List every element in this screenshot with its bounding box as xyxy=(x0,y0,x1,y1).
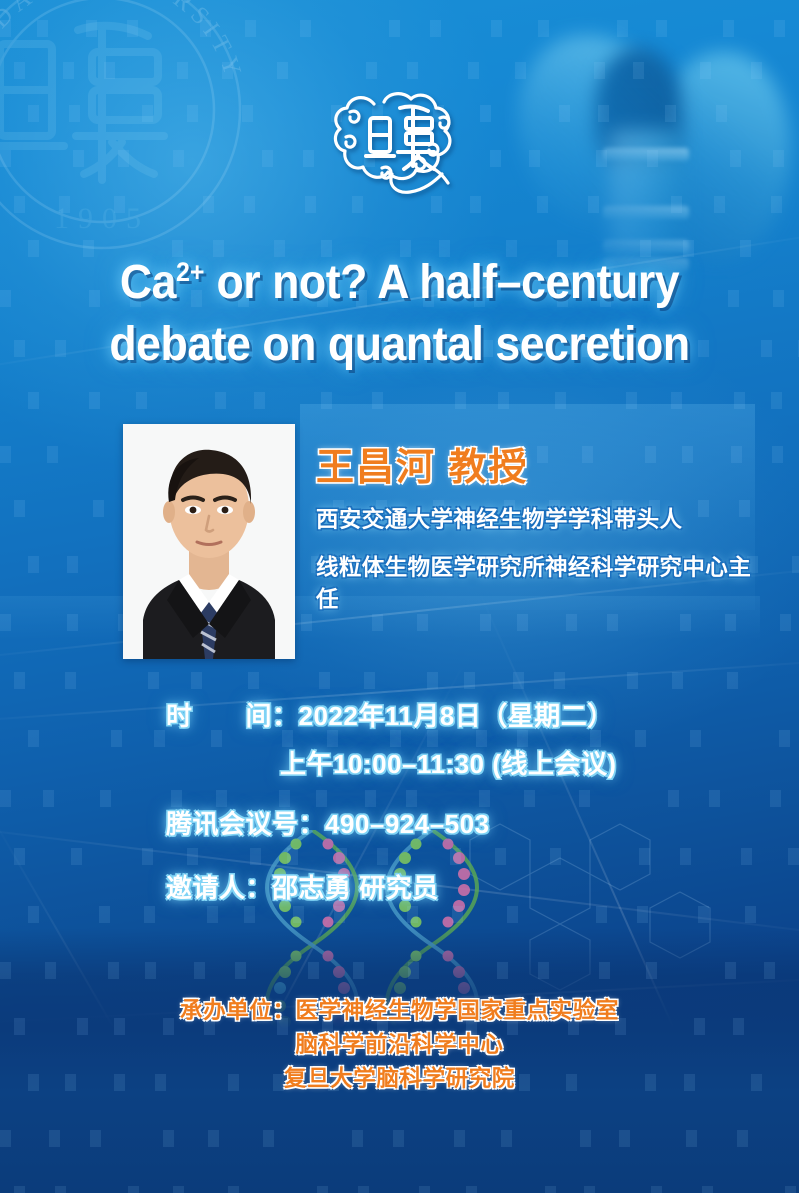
brain-logo-icon xyxy=(330,82,480,197)
speaker-title-line-1: 西安交通大学神经生物学学科带头人 xyxy=(316,502,766,534)
speaker-name: 王昌河 教授 xyxy=(316,436,529,491)
speaker-portrait-photo xyxy=(123,424,295,659)
page-title: Ca2+ or not? A half–century debate on qu… xyxy=(28,252,771,377)
organizer-line-2: 脑科学前沿科学中心 xyxy=(0,1028,799,1062)
title-formula-superscript: 2+ xyxy=(176,257,205,287)
event-time-second-line: 上午10:00–11:30 (线上会议) xyxy=(280,744,617,781)
organizers-block: 承办单位：医学神经生物学国家重点实验室 脑科学前沿科学中心 复旦大学脑科学研究院 xyxy=(0,994,799,1095)
title-line-1-rest: or not? A half–century xyxy=(205,256,680,309)
event-time-line: 时 间：2022年11月8日（星期二） xyxy=(166,696,614,733)
organizer-line-1: 承办单位：医学神经生物学国家重点实验室 xyxy=(0,994,799,1028)
speaker-title-line-2: 线粒体生物医学研究所神经科学研究中心主任 xyxy=(316,550,766,614)
host-line: 邀请人：邵志勇 研究员 xyxy=(166,868,439,905)
meeting-id-line: 腾讯会议号：490–924–503 xyxy=(166,804,490,841)
title-line-2: debate on quantal secretion xyxy=(28,314,771,376)
title-line-1: Ca2+ or not? A half–century xyxy=(28,252,771,314)
title-formula-ca: Ca xyxy=(120,256,176,309)
seminar-poster: FUDAN UNIVERSITY 1905 xyxy=(0,0,799,1193)
organizer-line-3: 复旦大学脑科学研究院 xyxy=(0,1062,799,1096)
